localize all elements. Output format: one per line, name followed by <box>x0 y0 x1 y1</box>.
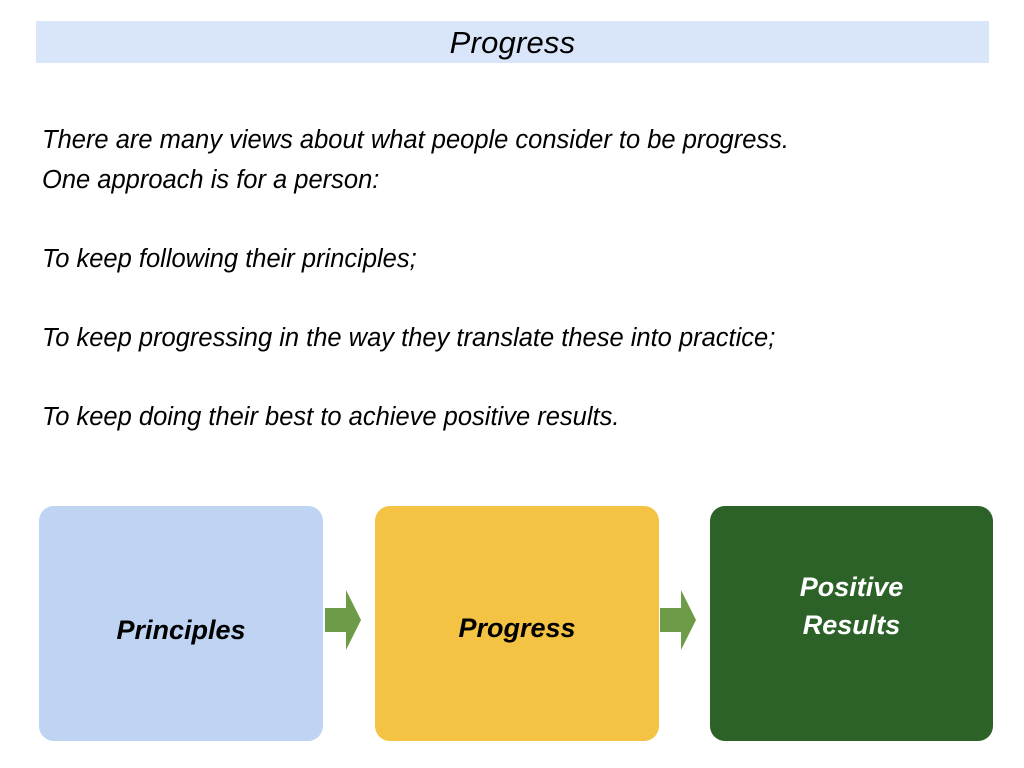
flow-diagram: Principles Progress Positive Results <box>0 506 1024 746</box>
page-title: Progress <box>450 27 576 58</box>
flow-arrow-principles-to-progress <box>325 590 361 650</box>
flow-box-positive-results: Positive Results <box>710 506 993 741</box>
right-arrow-icon <box>325 590 361 650</box>
flow-box-progress: Progress <box>375 506 659 741</box>
paragraph-principles-line-1: To keep following their principles; <box>42 239 992 279</box>
flow-box-positive-results-label: Positive Results <box>800 568 904 644</box>
paragraph-intro: There are many views about what people c… <box>42 120 992 200</box>
paragraph-principles: To keep following their principles; <box>42 239 992 279</box>
paragraph-results-line-1: To keep doing their best to achieve posi… <box>42 397 992 437</box>
right-arrow-icon <box>660 590 696 650</box>
paragraph-intro-line-2: One approach is for a person: <box>42 160 992 200</box>
flow-box-principles-label: Principles <box>116 611 245 649</box>
paragraph-practice: To keep progressing in the way they tran… <box>42 318 992 358</box>
flow-box-progress-label: Progress <box>458 609 575 647</box>
flow-arrow-progress-to-results <box>660 590 696 650</box>
flow-box-principles: Principles <box>39 506 323 741</box>
title-banner: Progress <box>36 21 989 63</box>
body-text-block: There are many views about what people c… <box>42 120 992 437</box>
slide-canvas: Progress There are many views about what… <box>0 0 1024 768</box>
paragraph-intro-line-1: There are many views about what people c… <box>42 120 992 160</box>
paragraph-practice-line-1: To keep progressing in the way they tran… <box>42 318 992 358</box>
paragraph-results: To keep doing their best to achieve posi… <box>42 397 992 437</box>
